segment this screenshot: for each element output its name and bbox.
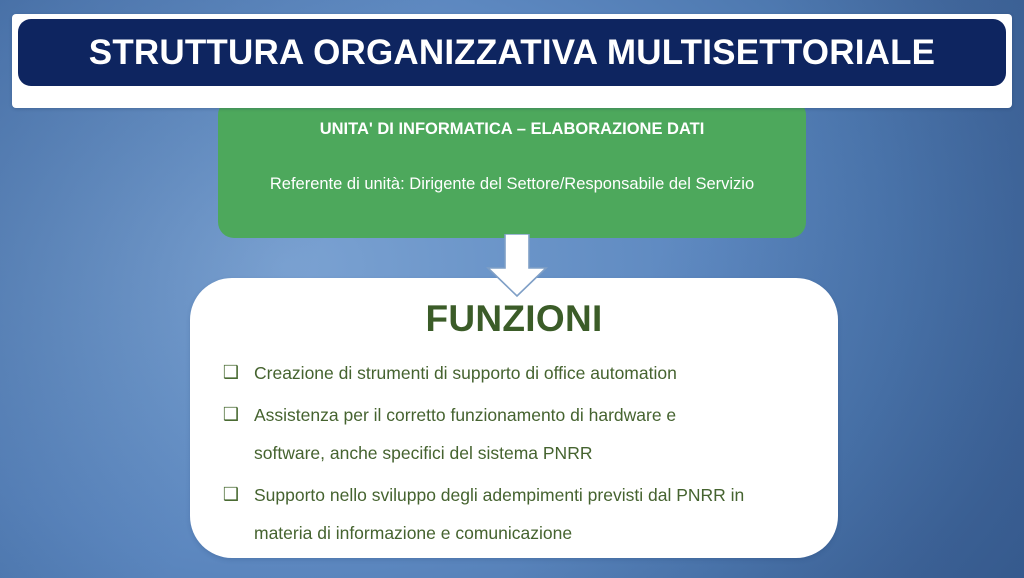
list-item-text: Assistenza per il corretto funzionamento… — [254, 396, 816, 472]
functions-card: FUNZIONI ❑ Creazione di strumenti di sup… — [190, 278, 838, 558]
functions-list: ❑ Creazione di strumenti di supporto di … — [190, 354, 838, 552]
page-title: STRUTTURA ORGANIZZATIVA MULTISETTORIALE — [89, 33, 935, 73]
list-item-line: Assistenza per il corretto funzionamento… — [254, 396, 816, 434]
list-item: ❑ Assistenza per il corretto funzionamen… — [208, 396, 816, 472]
bullet-square-icon: ❑ — [208, 354, 254, 392]
list-item: ❑ Creazione di strumenti di supporto di … — [208, 354, 816, 392]
list-item-line: Supporto nello sviluppo degli adempiment… — [254, 476, 816, 514]
list-item-text: Creazione di strumenti di supporto di of… — [254, 354, 816, 392]
title-banner: STRUTTURA ORGANIZZATIVA MULTISETTORIALE — [18, 19, 1006, 86]
list-item-line: software, anche specifici del sistema PN… — [254, 434, 816, 472]
list-item: ❑ Supporto nello sviluppo degli adempime… — [208, 476, 816, 552]
slide-canvas: STRUTTURA ORGANIZZATIVA MULTISETTORIALE … — [0, 0, 1024, 578]
bullet-square-icon: ❑ — [208, 476, 254, 514]
unit-box-title: UNITA' DI INFORMATICA – ELABORAZIONE DAT… — [320, 120, 705, 139]
list-item-line: materia di informazione e comunicazione — [254, 514, 816, 552]
functions-heading: FUNZIONI — [190, 298, 838, 340]
list-item-text: Supporto nello sviluppo degli adempiment… — [254, 476, 816, 552]
list-item-line: Creazione di strumenti di supporto di of… — [254, 354, 816, 392]
unit-box-subtitle: Referente di unità: Dirigente del Settor… — [270, 175, 754, 194]
unit-box: UNITA' DI INFORMATICA – ELABORAZIONE DAT… — [218, 99, 806, 238]
arrow-down-icon — [486, 234, 548, 298]
bullet-square-icon: ❑ — [208, 396, 254, 434]
